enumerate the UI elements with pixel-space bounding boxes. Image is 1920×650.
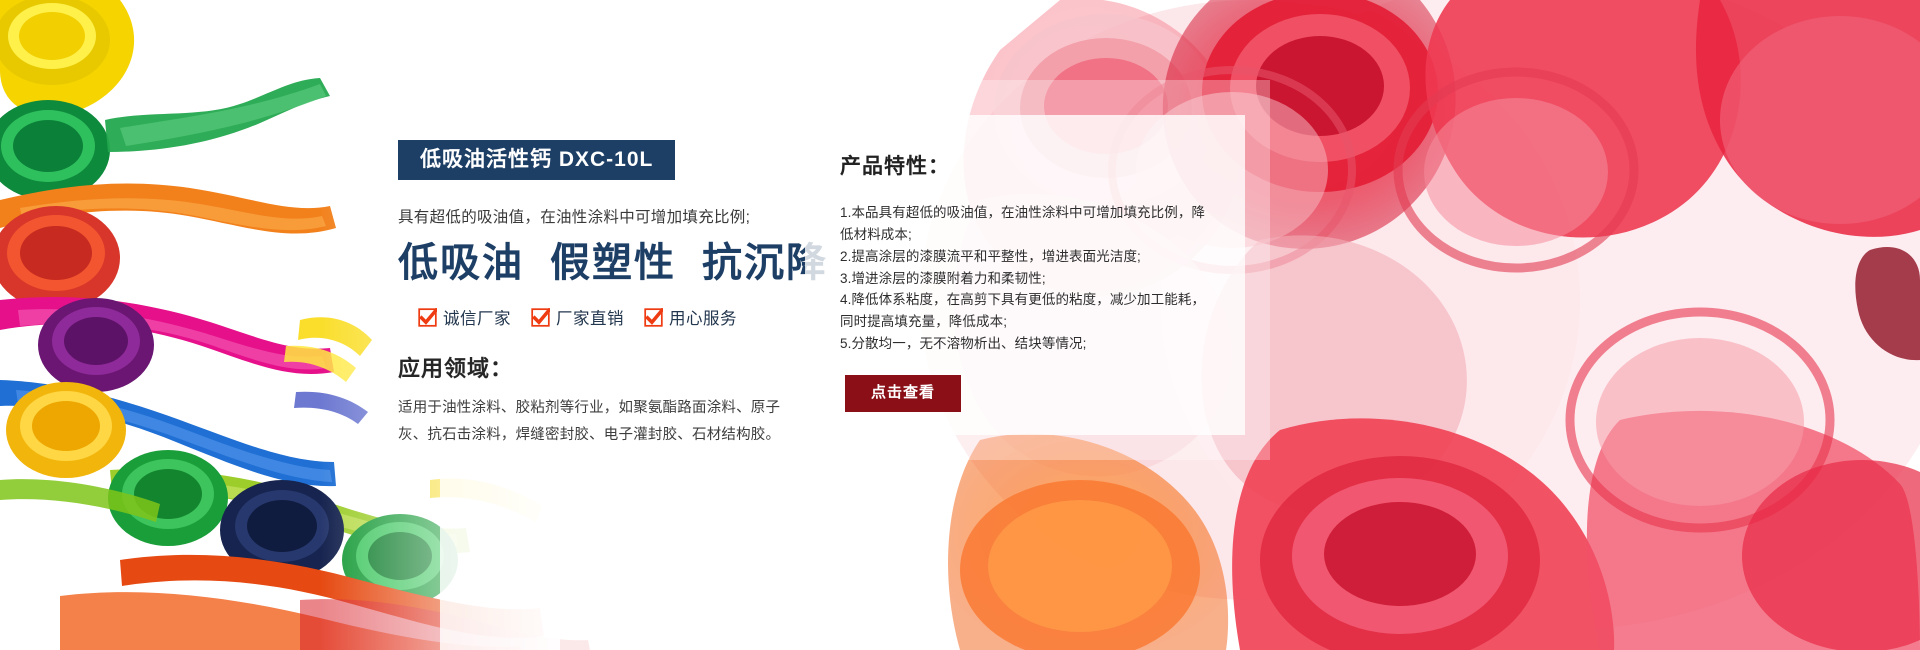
product-feature-item: 2.提高涂层的漆膜流平和平整性，增进表面光洁度;	[840, 246, 1215, 268]
feature-item: 用心服务	[644, 305, 737, 329]
product-features-title: 产品特性：	[840, 150, 1215, 180]
checkbox-checked-icon	[531, 308, 550, 327]
product-feature-item: 1.本品具有超低的吸油值，在油性涂料中可增加填充比例，降低材料成本;	[840, 202, 1215, 246]
feature-item-label: 诚信厂家	[443, 305, 511, 329]
feature-item: 厂家直销	[531, 305, 624, 329]
headline-keyword-1: 低吸油	[398, 241, 524, 285]
banner-stage: 低吸油活性钙 DXC-10L 具有超低的吸油值，在油性涂料中可增加填充比例; 低…	[0, 0, 1920, 650]
product-feature-item: 4.降低体系粘度，在高剪下具有更低的粘度，减少加工能耗，同时提高填充量，降低成本…	[840, 289, 1215, 333]
feature-item-label: 用心服务	[669, 305, 737, 329]
product-feature-item: 5.分散均一，无不溶物析出、结块等情况;	[840, 333, 1215, 355]
checkbox-checked-icon	[418, 308, 437, 327]
checkbox-checked-icon	[644, 308, 663, 327]
headline-keyword-2: 假塑性	[550, 241, 676, 285]
product-features-list: 1.本品具有超低的吸油值，在油性涂料中可增加填充比例，降低材料成本; 2.提高涂…	[840, 202, 1215, 355]
view-details-button[interactable]: 点击查看	[845, 375, 961, 412]
product-feature-item: 3.增进涂层的漆膜附着力和柔韧性;	[840, 268, 1215, 290]
feature-item: 诚信厂家	[418, 305, 511, 329]
application-section-body: 适用于油性涂料、胶粘剂等行业，如聚氨酯路面涂料、原子灰、抗石击涂料，焊缝密封胶、…	[398, 395, 798, 449]
feature-item-label: 厂家直销	[556, 305, 624, 329]
product-name-badge: 低吸油活性钙 DXC-10L	[398, 140, 675, 180]
